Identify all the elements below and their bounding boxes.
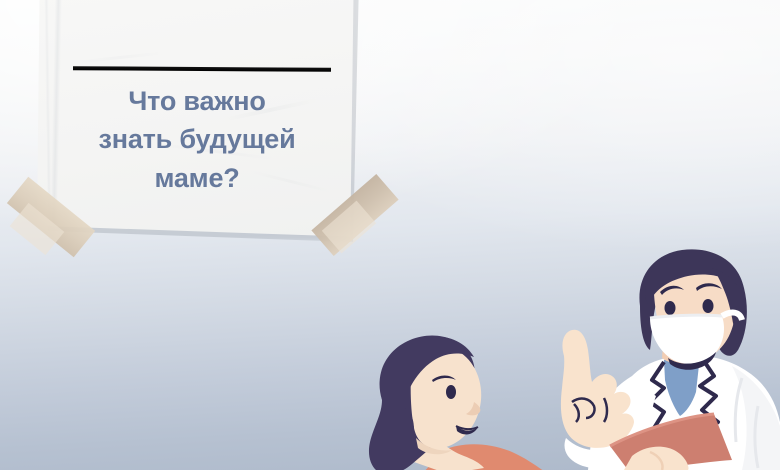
doctor-pointing-up xyxy=(536,246,780,470)
patient-eye xyxy=(446,385,456,399)
doctor-eye-left xyxy=(665,301,676,315)
slide-canvas: родам Что важно знать будущей маме? xyxy=(0,0,780,470)
illustration-layer xyxy=(0,0,780,470)
pregnant-woman-listening xyxy=(352,330,562,470)
doctor-eye-right xyxy=(703,299,714,313)
